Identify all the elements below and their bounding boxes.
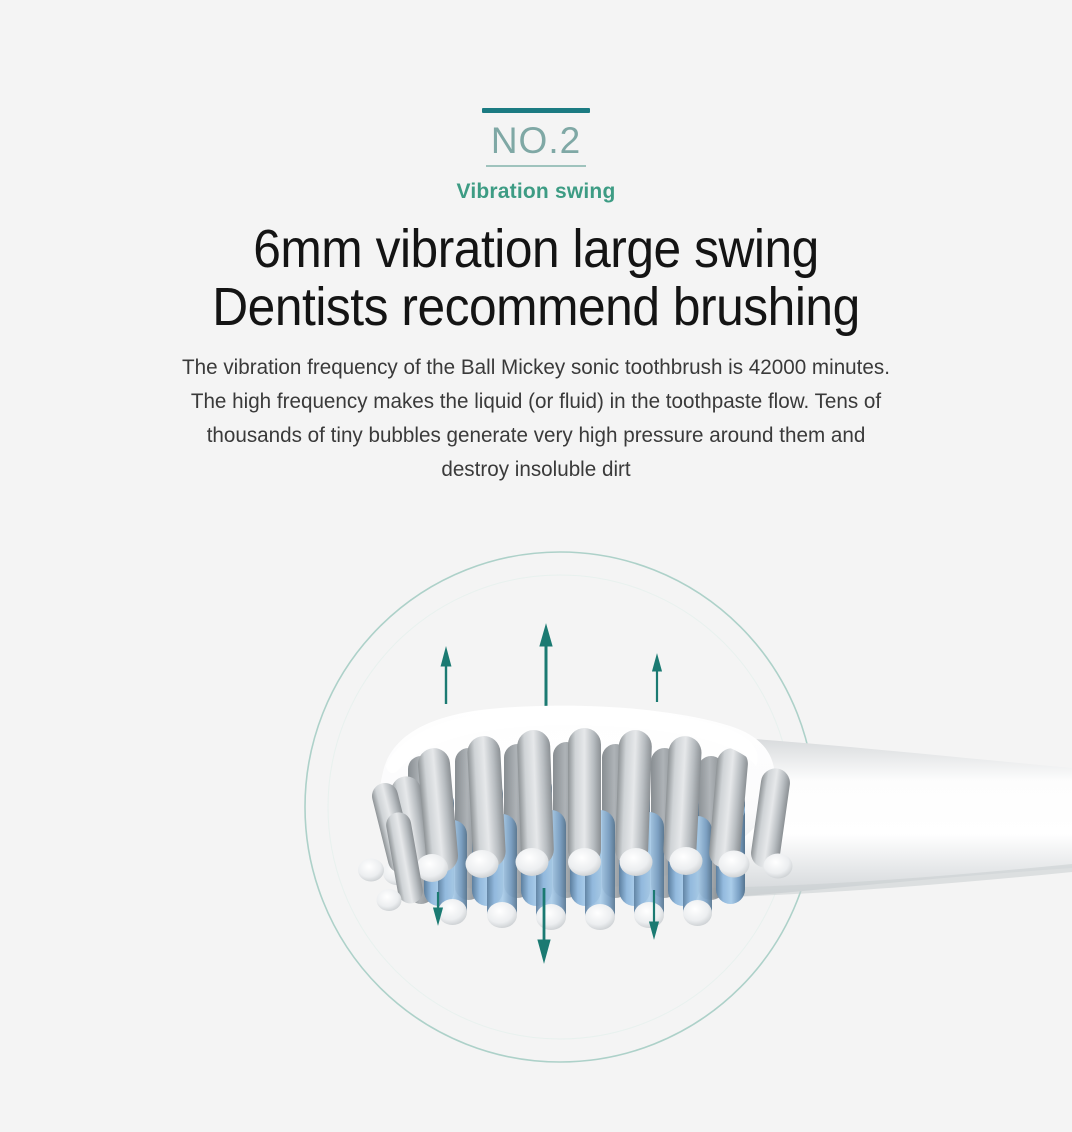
paragraph-line-3: thousands of tiny bubbles generate very …: [80, 418, 992, 452]
headline-line-2: Dentists recommend brushing: [43, 278, 1029, 336]
paragraph-line-2: The high frequency makes the liquid (or …: [80, 384, 992, 418]
bristle-tuft: [466, 735, 507, 878]
vibration-arrow-up-left: [441, 648, 451, 704]
product-infographic-page: NO.2 Vibration swing 6mm vibration large…: [0, 0, 1072, 1132]
vibration-arrow-up-right: [653, 655, 662, 702]
header-block: NO.2 Vibration swing 6mm vibration large…: [0, 0, 1072, 486]
headline-line-1: 6mm vibration large swing: [43, 220, 1029, 278]
badge: NO.2: [477, 0, 595, 167]
page-title: 6mm vibration large swing Dentists recom…: [43, 220, 1029, 336]
badge-bottom-rule: [486, 165, 586, 167]
badge-subtitle: Vibration swing: [0, 180, 1072, 204]
bristle-tuft: [663, 735, 703, 875]
paragraph-line-1: The vibration frequency of the Ball Mick…: [80, 350, 992, 384]
badge-number: NO.2: [477, 121, 595, 161]
badge-top-rule: [482, 108, 590, 113]
bristle-tuft: [615, 729, 653, 876]
description-paragraph: The vibration frequency of the Ball Mick…: [80, 350, 992, 486]
bristle-tuft: [568, 728, 601, 876]
bristle-tuft: [516, 729, 555, 876]
vibration-arrow-up-center: [540, 625, 552, 710]
bristle-outer-tufts-gray: [381, 728, 792, 887]
paragraph-line-4: destroy insoluble dirt: [80, 452, 992, 486]
product-illustration: [0, 520, 1072, 1132]
